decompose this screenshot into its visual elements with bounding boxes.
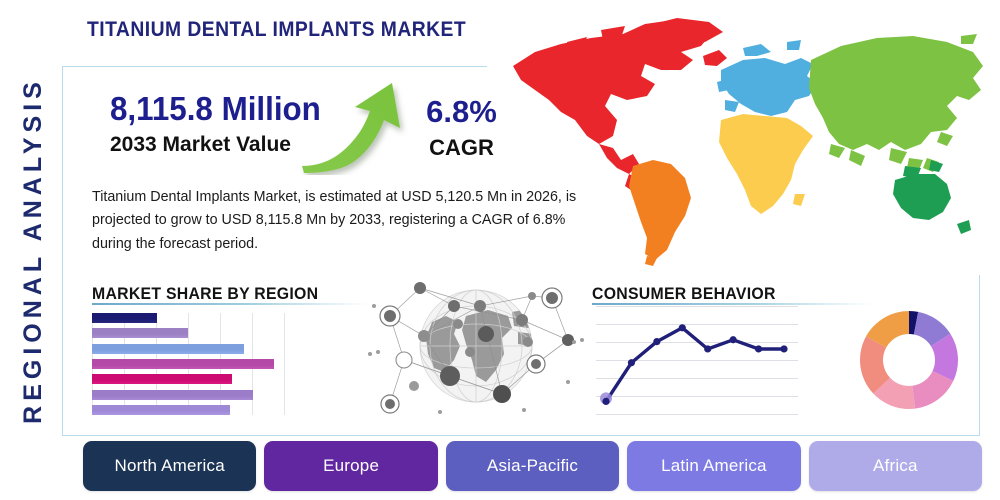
region-tab-label: Latin America: [661, 456, 767, 476]
region-tab-label: Africa: [873, 456, 918, 476]
side-label-text: REGIONAL ANALYSIS: [19, 77, 48, 424]
line-point: [653, 338, 660, 345]
world-map-icon: [495, 8, 995, 270]
region-tab-label: Asia-Pacific: [487, 456, 578, 476]
global-network-icon: [362, 276, 590, 420]
gridline: [284, 313, 285, 415]
heading-rule-consumer-behavior: [592, 303, 872, 305]
region-tab-asia-pacific[interactable]: Asia-Pacific: [446, 441, 619, 491]
region-tabs: North AmericaEuropeAsia-PacificLatin Ame…: [83, 441, 982, 491]
line-point: [602, 398, 609, 405]
consumer-behavior-line-chart: [596, 306, 798, 416]
region-tab-north-america[interactable]: North America: [83, 441, 256, 491]
region-tab-label: Europe: [323, 456, 379, 476]
line-point: [679, 324, 686, 331]
side-label: REGIONAL ANALYSIS: [6, 0, 60, 500]
line-point: [704, 345, 711, 352]
segment-donut-chart: [855, 305, 963, 415]
line-point: [628, 359, 635, 366]
region-tab-label: North America: [115, 456, 225, 476]
page-title: TITANIUM DENTAL IMPLANTS MARKET: [87, 18, 466, 42]
bar: [92, 344, 244, 354]
bar: [92, 328, 188, 338]
region-tab-europe[interactable]: Europe: [264, 441, 437, 491]
line-point: [755, 345, 762, 352]
growth-arrow-icon: [300, 80, 410, 175]
bar: [92, 405, 230, 415]
line-point: [730, 336, 737, 343]
section-heading-market-share: MARKET SHARE BY REGION: [92, 284, 318, 304]
infographic-root: REGIONAL ANALYSIS TITANIUM DENTAL IMPLAN…: [0, 0, 1000, 500]
section-heading-consumer-behavior: CONSUMER BEHAVIOR: [592, 284, 776, 304]
market-share-bar-chart: [92, 313, 284, 415]
line-chart-series: [596, 306, 798, 416]
bar-chart-bars: [92, 313, 284, 415]
region-tab-latin-america[interactable]: Latin America: [627, 441, 800, 491]
bar: [92, 374, 232, 384]
bar: [92, 313, 157, 323]
bar: [92, 390, 253, 400]
region-tab-africa[interactable]: Africa: [809, 441, 982, 491]
bar: [92, 359, 274, 369]
line-point: [780, 345, 787, 352]
heading-rule-market-share: [92, 303, 368, 305]
